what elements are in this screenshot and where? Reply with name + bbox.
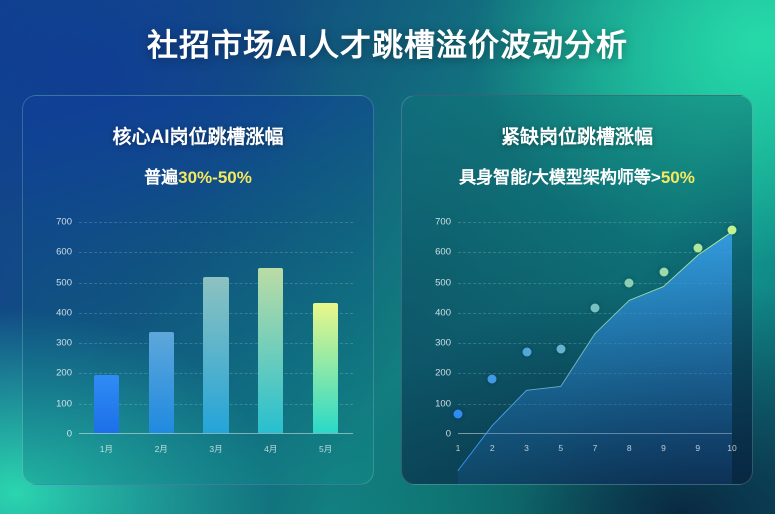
line-chart-x-tick-label: 8 — [627, 443, 632, 453]
line-chart-data-point — [625, 278, 634, 287]
line-chart-y-tick-label: 700 — [435, 217, 451, 228]
line-chart-y-tick-label: 0 — [446, 429, 451, 440]
bar-chart-x-tick-label: 4月 — [264, 443, 277, 455]
card-scarce-roles: 紧缺岗位跳槽涨幅 具身智能/大模型架构师等>50% 01002003004005… — [401, 95, 753, 485]
line-chart-y-tick-label: 500 — [435, 277, 451, 288]
line-chart-x-tick-label: 7 — [593, 443, 598, 453]
left-card-subtitle-prefix: 普遍 — [144, 168, 178, 187]
line-chart-y-tick-label: 200 — [435, 368, 451, 379]
bar-chart-x-tick-label: 2月 — [155, 443, 168, 455]
line-chart-x-tick-label: 9 — [661, 443, 666, 453]
right-card-title: 紧缺岗位跳槽涨幅 — [402, 122, 752, 149]
bar-chart-y-tick-label: 700 — [56, 217, 72, 228]
line-chart-x-tick-label: 10 — [727, 443, 736, 453]
left-card-subtitle: 普遍30%-50% — [23, 163, 373, 188]
bar-chart-y-tick-label: 0 — [67, 429, 72, 440]
line-chart-data-point — [728, 225, 737, 234]
line-chart-x-tick-label: 5 — [558, 443, 563, 453]
bar — [203, 277, 228, 433]
right-card-subtitle: 具身智能/大模型架构师等>50% — [402, 163, 752, 188]
line-chart-data-point — [488, 375, 497, 384]
bar-chart-y-tick-label: 200 — [56, 368, 72, 379]
line-chart-y-tick-label: 300 — [435, 338, 451, 349]
right-card-subtitle-prefix: 具身智能/大模型架构师等> — [459, 168, 661, 187]
line-chart-plot-area: 01002003004005006007001235789910 — [458, 222, 732, 434]
line-chart-y-tick-label: 100 — [435, 398, 451, 409]
line-chart-data-point — [556, 345, 565, 354]
line-chart-x-tick-label: 2 — [490, 443, 495, 453]
line-chart-data-point — [522, 348, 531, 357]
bar-chart-y-tick-label: 400 — [56, 307, 72, 318]
bar-chart-y-tick-label: 100 — [56, 398, 72, 409]
card-core-ai-roles: 核心AI岗位跳槽涨幅 普遍30%-50% 0100200300400500600… — [22, 95, 374, 485]
left-card-title: 核心AI岗位跳槽涨幅 — [23, 122, 373, 149]
bar — [94, 375, 119, 433]
bar-chart-y-tick-label: 600 — [56, 247, 72, 258]
line-chart-y-tick-label: 600 — [435, 247, 451, 258]
bar-chart-gridline — [79, 222, 353, 223]
line-chart-x-tick-label: 1 — [456, 443, 461, 453]
bar-chart-x-axis — [79, 433, 353, 434]
line-chart-y-tick-label: 400 — [435, 307, 451, 318]
line-chart: 01002003004005006007001235789910 — [416, 214, 740, 464]
line-chart-x-tick-label: 9 — [695, 443, 700, 453]
bar-chart: 01002003004005006007001月2月3月4月5月 — [37, 214, 361, 464]
line-chart-data-point — [693, 243, 702, 252]
line-chart-x-tick-label: 3 — [524, 443, 529, 453]
page-title: 社招市场AI人才跳槽溢价波动分析 — [0, 20, 775, 65]
bar-chart-x-tick-label: 1月 — [100, 443, 113, 455]
bar — [313, 303, 338, 433]
bar-chart-y-tick-label: 500 — [56, 277, 72, 288]
line-chart-data-point — [454, 410, 463, 419]
bar-chart-gridline — [79, 252, 353, 253]
bar — [258, 268, 283, 433]
bar — [149, 332, 174, 433]
bar-chart-x-tick-label: 5月 — [319, 443, 332, 455]
left-card-subtitle-highlight: 30%-50% — [178, 168, 252, 187]
bar-chart-x-tick-label: 3月 — [209, 443, 222, 455]
bar-chart-y-tick-label: 300 — [56, 338, 72, 349]
cards-row: 核心AI岗位跳槽涨幅 普遍30%-50% 0100200300400500600… — [22, 95, 753, 485]
bar-chart-plot-area: 01002003004005006007001月2月3月4月5月 — [79, 222, 353, 434]
poster-canvas: 社招市场AI人才跳槽溢价波动分析 核心AI岗位跳槽涨幅 普遍30%-50% 01… — [0, 0, 775, 514]
right-card-subtitle-highlight: 50% — [661, 168, 695, 187]
line-chart-data-point — [591, 304, 600, 313]
line-chart-data-point — [659, 267, 668, 276]
